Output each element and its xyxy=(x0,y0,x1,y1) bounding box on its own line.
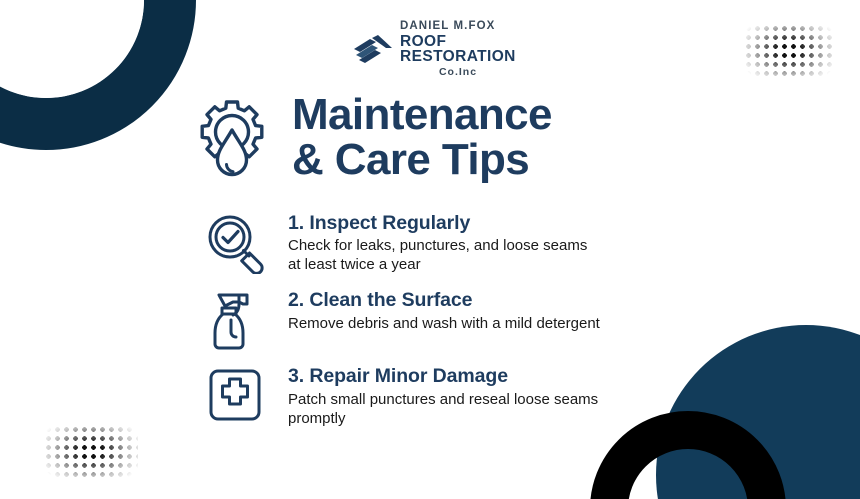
tip-description-2: Remove debris and wash with a mild deter… xyxy=(288,315,600,334)
tip-item-1: 1. Inspect Regularly Check for leaks, pu… xyxy=(205,210,805,275)
tip-text-3: 3. Repair Minor Damage Patch small punct… xyxy=(265,363,598,428)
slide-canvas: DANIEL M.FOX ROOF RESTORATION Co.Inc Mai… xyxy=(0,0,860,499)
brand-logo: DANIEL M.FOX ROOF RESTORATION Co.Inc xyxy=(352,26,516,72)
tips-list: 1. Inspect Regularly Check for leaks, pu… xyxy=(205,210,805,440)
logo-line-2: ROOF RESTORATION xyxy=(400,34,516,65)
tip-title-2: 2. Clean the Surface xyxy=(288,289,600,311)
logo-line-3: Co.Inc xyxy=(400,67,516,78)
roof-logo-icon xyxy=(352,34,398,64)
magnifier-check-icon xyxy=(205,212,265,274)
tip-text-1: 1. Inspect Regularly Check for leaks, pu… xyxy=(265,210,587,275)
page-title: Maintenance & Care Tips xyxy=(292,92,552,183)
tip-title-1: 1. Inspect Regularly xyxy=(288,212,587,234)
dot-grid-decoration-top-right xyxy=(744,24,834,76)
tip-title-3: 3. Repair Minor Damage xyxy=(288,365,598,387)
tip-description-3: Patch small punctures and reseal loose s… xyxy=(288,391,598,429)
tip-description-1: Check for leaks, punctures, and loose se… xyxy=(288,237,587,275)
tip-item-2: 2. Clean the Surface Remove debris and w… xyxy=(205,287,805,351)
spray-bottle-icon xyxy=(205,289,265,351)
title-block: Maintenance & Care Tips xyxy=(196,92,552,186)
first-aid-cross-icon xyxy=(205,365,265,427)
brand-logo-text: DANIEL M.FOX ROOF RESTORATION Co.Inc xyxy=(400,21,516,77)
tip-text-2: 2. Clean the Surface Remove debris and w… xyxy=(265,287,600,333)
logo-line-1: DANIEL M.FOX xyxy=(400,21,516,33)
dot-grid-decoration-bottom-left xyxy=(44,425,138,477)
tip-item-3: 3. Repair Minor Damage Patch small punct… xyxy=(205,363,805,428)
gear-water-drop-icon xyxy=(196,94,274,186)
